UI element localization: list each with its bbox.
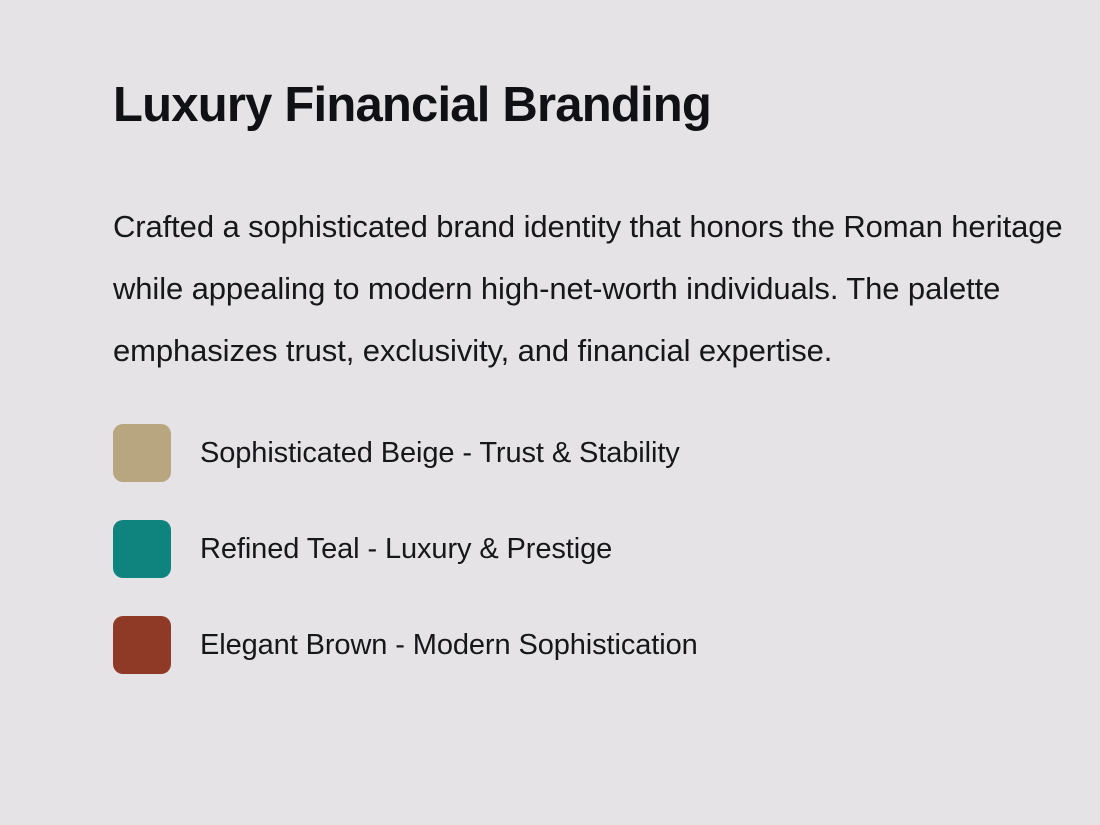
legend-label-refined-teal: Refined Teal - Luxury & Prestige [200, 532, 612, 566]
description-line-1: Crafted a sophisticated brand identity t… [113, 196, 1063, 258]
legend-item-refined-teal[interactable]: Refined Teal - Luxury & Prestige [113, 520, 698, 578]
color-legend: Sophisticated Beige - Trust & Stability … [113, 424, 698, 674]
legend-label-sophisticated-beige: Sophisticated Beige - Trust & Stability [200, 436, 680, 470]
legend-item-elegant-brown[interactable]: Elegant Brown - Modern Sophistication [113, 616, 698, 674]
description-line-2: while appealing to modern high-net-worth… [113, 258, 1063, 320]
project-description: Crafted a sophisticated brand identity t… [113, 196, 1063, 382]
page-viewport: Luxury Financial Branding Crafted a soph… [0, 0, 1100, 825]
swatch-sophisticated-beige [113, 424, 171, 482]
legend-item-sophisticated-beige[interactable]: Sophisticated Beige - Trust & Stability [113, 424, 698, 482]
swatch-elegant-brown [113, 616, 171, 674]
description-line-3: emphasizes trust, exclusivity, and finan… [113, 320, 1063, 382]
legend-label-elegant-brown: Elegant Brown - Modern Sophistication [200, 628, 698, 662]
page-title: Luxury Financial Branding [113, 76, 711, 134]
swatch-refined-teal [113, 520, 171, 578]
